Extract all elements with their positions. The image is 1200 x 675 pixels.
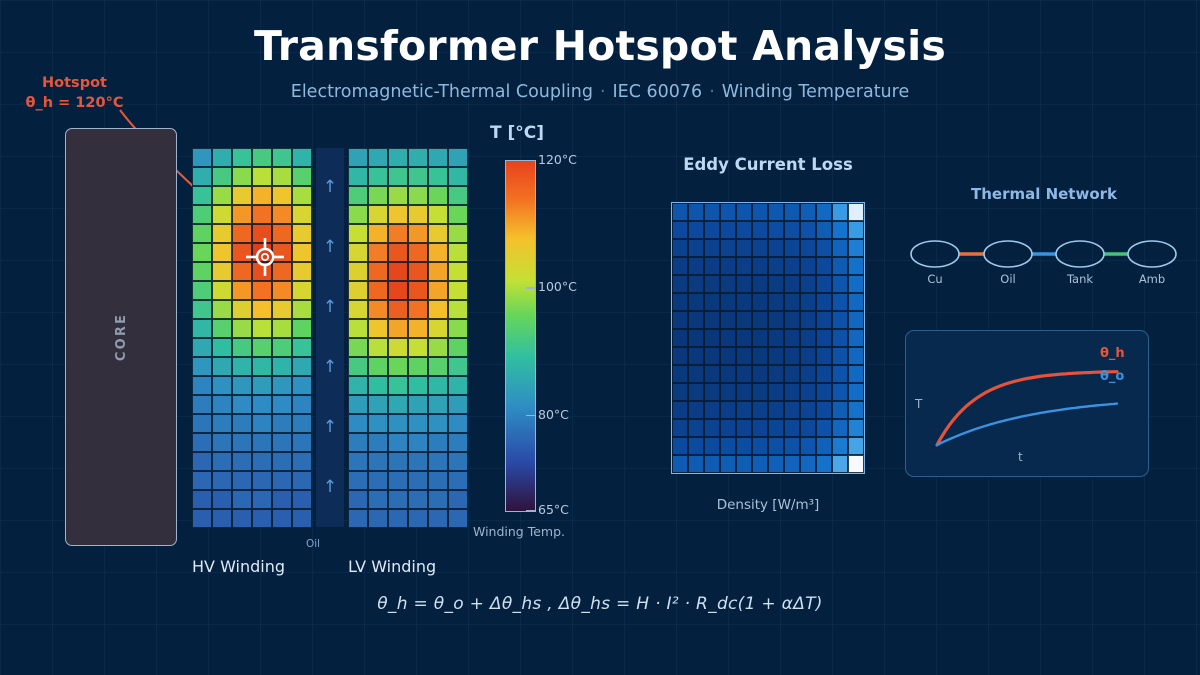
heatmap-cell — [832, 293, 848, 311]
heatmap-cell — [428, 509, 448, 528]
heatmap-cell — [704, 221, 720, 239]
core-block: CORE — [65, 128, 177, 546]
heatmap-cell — [232, 357, 252, 376]
heatmap-cell — [768, 455, 784, 473]
heatmap-cell — [688, 329, 704, 347]
subtitle-part-2: Winding Temperature — [722, 82, 909, 102]
heatmap-cell — [388, 509, 408, 528]
oil-flow-arrow-icon: ↑ — [323, 299, 337, 316]
heatmap-cell — [348, 509, 368, 528]
heatmap-cell — [408, 243, 428, 262]
heatmap-cell — [704, 347, 720, 365]
heatmap-cell — [448, 205, 468, 224]
heatmap-cell — [292, 414, 312, 433]
heatmap-cell — [428, 319, 448, 338]
heatmap-cell — [848, 257, 864, 275]
heatmap-cell — [848, 401, 864, 419]
heatmap-cell — [212, 167, 232, 186]
heatmap-cell — [252, 300, 272, 319]
heatmap-cell — [292, 224, 312, 243]
heatmap-cell — [720, 383, 736, 401]
heatmap-cell — [752, 455, 768, 473]
page-subtitle: Electromagnetic-Thermal Coupling·IEC 600… — [0, 82, 1200, 102]
heatmap-cell — [212, 338, 232, 357]
heatmap-cell — [448, 338, 468, 357]
heatmap-cell — [348, 148, 368, 167]
heatmap-cell — [768, 257, 784, 275]
heatmap-cell — [408, 414, 428, 433]
heatmap-cell — [752, 239, 768, 257]
thermal-node-amb[interactable] — [1128, 241, 1176, 267]
rise-chart-ylabel: T — [915, 397, 922, 411]
heatmap-cell — [388, 376, 408, 395]
heatmap-cell — [672, 347, 688, 365]
page-title: Transformer Hotspot Analysis — [0, 22, 1200, 70]
heatmap-cell — [388, 300, 408, 319]
heatmap-cell — [832, 239, 848, 257]
heatmap-cell — [348, 205, 368, 224]
heatmap-cell — [736, 329, 752, 347]
heatmap-cell — [448, 452, 468, 471]
heatmap-cell — [832, 455, 848, 473]
heatmap-cell — [212, 281, 232, 300]
heatmap-cell — [752, 293, 768, 311]
oil-flow-arrow-icon: ↑ — [323, 239, 337, 256]
heatmap-cell — [672, 275, 688, 293]
heatmap-cell — [816, 311, 832, 329]
heatmap-cell — [232, 509, 252, 528]
heatmap-cell — [408, 205, 428, 224]
heatmap-cell — [688, 221, 704, 239]
heatmap-cell — [408, 167, 428, 186]
heatmap-cell — [736, 419, 752, 437]
heatmap-cell — [212, 357, 232, 376]
subtitle-part-1: IEC 60076 — [613, 82, 703, 102]
heatmap-cell — [388, 224, 408, 243]
heatmap-cell — [736, 347, 752, 365]
heatmap-cell — [752, 203, 768, 221]
thermal-node-label-amb: Amb — [1139, 272, 1165, 286]
heatmap-cell — [252, 395, 272, 414]
heatmap-cell — [272, 319, 292, 338]
heatmap-cell — [784, 203, 800, 221]
heatmap-cell — [832, 383, 848, 401]
heatmap-cell — [736, 203, 752, 221]
heatmap-cell — [272, 205, 292, 224]
heatmap-cell — [448, 224, 468, 243]
heatmap-cell — [672, 455, 688, 473]
heatmap-cell — [368, 224, 388, 243]
thermal-network-diagram[interactable]: CuOilTankAmb — [900, 230, 1190, 300]
heatmap-cell — [800, 239, 816, 257]
oil-flow-arrow-icon: ↑ — [323, 359, 337, 376]
heatmap-cell — [704, 437, 720, 455]
heatmap-cell — [736, 401, 752, 419]
heatmap-cell — [368, 471, 388, 490]
heatmap-cell — [704, 275, 720, 293]
heatmap-cell — [212, 205, 232, 224]
heatmap-cell — [348, 357, 368, 376]
heatmap-cell — [832, 437, 848, 455]
heatmap-cell — [388, 395, 408, 414]
heatmap-cell — [752, 419, 768, 437]
heatmap-cell — [736, 455, 752, 473]
heatmap-cell — [752, 401, 768, 419]
heatmap-cell — [232, 148, 252, 167]
heatmap-cell — [408, 186, 428, 205]
heatmap-cell — [408, 262, 428, 281]
heatmap-cell — [292, 433, 312, 452]
heatmap-cell — [428, 414, 448, 433]
heatmap-cell — [292, 243, 312, 262]
heatmap-cell — [232, 433, 252, 452]
heatmap-cell — [428, 300, 448, 319]
heatmap-cell — [408, 471, 428, 490]
heatmap-cell — [368, 376, 388, 395]
heatmap-cell — [720, 437, 736, 455]
heatmap-cell — [348, 452, 368, 471]
heatmap-cell — [448, 414, 468, 433]
heatmap-cell — [688, 419, 704, 437]
heatmap-cell — [212, 148, 232, 167]
heatmap-cell — [272, 395, 292, 414]
heatmap-cell — [252, 376, 272, 395]
heatmap-cell — [368, 205, 388, 224]
heatmap-cell — [448, 509, 468, 528]
heatmap-cell — [428, 452, 448, 471]
heatmap-cell — [408, 490, 428, 509]
heatmap-cell — [704, 329, 720, 347]
heatmap-cell — [688, 257, 704, 275]
heatmap-cell — [784, 347, 800, 365]
heatmap-cell — [688, 455, 704, 473]
heatmap-cell — [368, 319, 388, 338]
heatmap-cell — [232, 414, 252, 433]
heatmap-cell — [192, 148, 212, 167]
heatmap-cell — [428, 205, 448, 224]
heatmap-cell — [704, 365, 720, 383]
heatmap-cell — [428, 281, 448, 300]
heatmap-cell — [428, 471, 448, 490]
heatmap-cell — [848, 455, 864, 473]
heatmap-cell — [800, 365, 816, 383]
hotspot-crosshair-icon[interactable] — [245, 237, 285, 277]
heatmap-cell — [192, 186, 212, 205]
heatmap-cell — [292, 281, 312, 300]
heatmap-cell — [212, 376, 232, 395]
heatmap-cell — [688, 401, 704, 419]
heatmap-cell — [252, 490, 272, 509]
heatmap-cell — [192, 224, 212, 243]
heatmap-cell — [704, 311, 720, 329]
heatmap-cell — [348, 281, 368, 300]
heatmap-cell — [368, 433, 388, 452]
thermal-node-oil[interactable] — [984, 241, 1032, 267]
oil-flow-arrow-icon: ↑ — [323, 179, 337, 196]
heatmap-cell — [368, 262, 388, 281]
heatmap-cell — [252, 357, 272, 376]
heatmap-cell — [192, 281, 212, 300]
heatmap-cell — [768, 347, 784, 365]
heatmap-cell — [272, 414, 292, 433]
heatmap-cell — [800, 275, 816, 293]
oil-duct: ↑↑↑↑↑↑ — [316, 148, 344, 527]
heatmap-cell — [848, 437, 864, 455]
heatmap-cell — [832, 347, 848, 365]
heatmap-cell — [408, 224, 428, 243]
heatmap-cell — [348, 471, 368, 490]
heatmap-cell — [348, 319, 368, 338]
heatmap-cell — [816, 329, 832, 347]
heatmap-cell — [388, 414, 408, 433]
heatmap-cell — [720, 203, 736, 221]
heatmap-cell — [388, 148, 408, 167]
heatmap-cell — [408, 395, 428, 414]
heatmap-cell — [832, 419, 848, 437]
colorbar-tick-1: 100°C — [538, 279, 577, 294]
heatmap-cell — [272, 357, 292, 376]
heatmap-cell — [816, 437, 832, 455]
heatmap-cell — [720, 293, 736, 311]
heatmap-cell — [448, 300, 468, 319]
heatmap-cell — [428, 338, 448, 357]
heatmap-cell — [368, 148, 388, 167]
heatmap-cell — [784, 401, 800, 419]
heatmap-cell — [816, 419, 832, 437]
heatmap-cell — [408, 338, 428, 357]
heatmap-cell — [784, 257, 800, 275]
heatmap-cell — [292, 357, 312, 376]
colorbar-tick-3: 65°C — [538, 502, 569, 517]
heatmap-cell — [720, 329, 736, 347]
colorbar-title: T [°C] — [462, 123, 572, 143]
heatmap-cell — [736, 275, 752, 293]
heatmap-cell — [768, 365, 784, 383]
heatmap-cell — [348, 243, 368, 262]
heatmap-cell — [768, 311, 784, 329]
heatmap-cell — [848, 347, 864, 365]
eddy-loss-title: Eddy Current Loss — [640, 155, 896, 174]
heatmap-cell — [784, 383, 800, 401]
heatmap-cell — [348, 338, 368, 357]
heatmap-cell — [428, 186, 448, 205]
heatmap-cell — [672, 293, 688, 311]
heatmap-cell — [368, 490, 388, 509]
heatmap-cell — [192, 167, 212, 186]
heatmap-cell — [212, 414, 232, 433]
heatmap-cell — [768, 221, 784, 239]
heatmap-cell — [832, 329, 848, 347]
heatmap-cell — [348, 224, 368, 243]
heatmap-cell — [768, 419, 784, 437]
heatmap-cell — [688, 203, 704, 221]
eddy-loss-heatmap[interactable] — [671, 202, 865, 474]
heatmap-cell — [388, 319, 408, 338]
colorbar-tick-0: 120°C — [538, 152, 577, 167]
heatmap-cell — [752, 221, 768, 239]
heatmap-cell — [428, 148, 448, 167]
heatmap-cell — [408, 300, 428, 319]
heatmap-cell — [252, 205, 272, 224]
heatmap-cell — [252, 509, 272, 528]
heatmap-cell — [736, 383, 752, 401]
heatmap-cell — [292, 338, 312, 357]
heatmap-cell — [192, 414, 212, 433]
heatmap-cell — [720, 401, 736, 419]
heatmap-cell — [368, 186, 388, 205]
heatmap-cell — [428, 224, 448, 243]
heatmap-cell — [752, 329, 768, 347]
heatmap-cell — [232, 452, 252, 471]
heatmap-cell — [292, 300, 312, 319]
heatmap-cell — [212, 452, 232, 471]
heatmap-cell — [368, 167, 388, 186]
heatmap-cell — [672, 383, 688, 401]
heatmap-cell — [832, 275, 848, 293]
heatmap-cell — [704, 203, 720, 221]
heatmap-cell — [252, 281, 272, 300]
heatmap-cell — [192, 395, 212, 414]
heatmap-cell — [768, 275, 784, 293]
heatmap-cell — [292, 471, 312, 490]
heatmap-cell — [232, 395, 252, 414]
thermal-node-label-oil: Oil — [1000, 272, 1015, 286]
heatmap-cell — [448, 243, 468, 262]
heatmap-cell — [784, 419, 800, 437]
heatmap-cell — [448, 357, 468, 376]
heatmap-cell — [348, 433, 368, 452]
lv-winding-heatmap[interactable] — [348, 148, 468, 528]
heatmap-cell — [272, 186, 292, 205]
heatmap-cell — [192, 338, 212, 357]
heatmap-cell — [736, 437, 752, 455]
heatmap-cell — [348, 167, 368, 186]
heatmap-cell — [448, 281, 468, 300]
heatmap-cell — [232, 471, 252, 490]
heatmap-cell — [388, 243, 408, 262]
heatmap-cell — [192, 300, 212, 319]
heatmap-cell — [784, 437, 800, 455]
heatmap-cell — [736, 365, 752, 383]
heatmap-cell — [408, 376, 428, 395]
heatmap-cell — [192, 433, 212, 452]
heatmap-cell — [252, 319, 272, 338]
heatmap-cell — [800, 293, 816, 311]
heatmap-cell — [672, 239, 688, 257]
heatmap-cell — [448, 395, 468, 414]
heatmap-cell — [720, 347, 736, 365]
heatmap-cell — [292, 167, 312, 186]
heatmap-cell — [252, 186, 272, 205]
heatmap-cell — [388, 281, 408, 300]
oil-flow-arrow-icon: ↑ — [323, 479, 337, 496]
heatmap-cell — [672, 257, 688, 275]
heatmap-cell — [428, 167, 448, 186]
heatmap-cell — [688, 293, 704, 311]
heatmap-cell — [408, 281, 428, 300]
heatmap-cell — [704, 455, 720, 473]
legend-theta-h: θ_h — [1100, 346, 1125, 361]
heatmap-cell — [800, 455, 816, 473]
diagram-canvas: Transformer Hotspot Analysis Electromagn… — [0, 0, 1200, 675]
heatmap-cell — [752, 365, 768, 383]
heatmap-cell — [388, 357, 408, 376]
hv-winding-label: HV Winding — [192, 557, 312, 576]
heatmap-cell — [348, 300, 368, 319]
heatmap-cell — [816, 383, 832, 401]
thermal-node-cu[interactable] — [911, 241, 959, 267]
eddy-loss-caption: Density [W/m³] — [640, 497, 896, 513]
heatmap-cell — [192, 509, 212, 528]
heatmap-cell — [832, 257, 848, 275]
hv-winding-heatmap[interactable] — [192, 148, 312, 528]
subtitle-part-0: Electromagnetic-Thermal Coupling — [291, 82, 593, 102]
heatmap-cell — [816, 293, 832, 311]
heatmap-cell — [784, 311, 800, 329]
heatmap-cell — [272, 148, 292, 167]
heatmap-cell — [672, 329, 688, 347]
heatmap-cell — [768, 203, 784, 221]
heatmap-cell — [848, 275, 864, 293]
heatmap-cell — [272, 490, 292, 509]
colorbar-caption: Winding Temp. — [470, 524, 568, 540]
heatmap-cell — [408, 433, 428, 452]
heatmap-cell — [832, 203, 848, 221]
heatmap-cell — [348, 262, 368, 281]
heatmap-cell — [368, 338, 388, 357]
heatmap-cell — [388, 433, 408, 452]
formula-text: θ_h = θ_o + Δθ_hs , Δθ_hs = H · I² · R_d… — [0, 594, 1200, 614]
heatmap-cell — [448, 471, 468, 490]
hotspot-annotation: Hotspot θ_h = 120°C — [12, 74, 137, 113]
heatmap-cell — [252, 452, 272, 471]
heatmap-cell — [672, 203, 688, 221]
heatmap-cell — [768, 329, 784, 347]
heatmap-cell — [736, 221, 752, 239]
heatmap-cell — [368, 509, 388, 528]
heatmap-cell — [768, 293, 784, 311]
heatmap-cell — [192, 243, 212, 262]
heatmap-cell — [408, 319, 428, 338]
heatmap-cell — [232, 281, 252, 300]
heatmap-cell — [800, 419, 816, 437]
heatmap-cell — [388, 205, 408, 224]
heatmap-cell — [388, 167, 408, 186]
heatmap-cell — [212, 243, 232, 262]
heatmap-cell — [800, 383, 816, 401]
heatmap-cell — [292, 186, 312, 205]
heatmap-cell — [448, 319, 468, 338]
heatmap-cell — [848, 203, 864, 221]
heatmap-cell — [752, 383, 768, 401]
heatmap-cell — [720, 275, 736, 293]
heatmap-cell — [688, 239, 704, 257]
heatmap-cell — [800, 221, 816, 239]
heatmap-cell — [272, 338, 292, 357]
heatmap-cell — [272, 281, 292, 300]
heatmap-cell — [252, 338, 272, 357]
heatmap-cell — [720, 455, 736, 473]
heatmap-cell — [252, 433, 272, 452]
heatmap-cell — [192, 319, 212, 338]
heatmap-cell — [192, 490, 212, 509]
heatmap-cell — [800, 257, 816, 275]
thermal-node-tank[interactable] — [1056, 241, 1104, 267]
heatmap-cell — [232, 338, 252, 357]
thermal-node-label-tank: Tank — [1066, 272, 1093, 286]
heatmap-cell — [448, 433, 468, 452]
heatmap-cell — [368, 452, 388, 471]
